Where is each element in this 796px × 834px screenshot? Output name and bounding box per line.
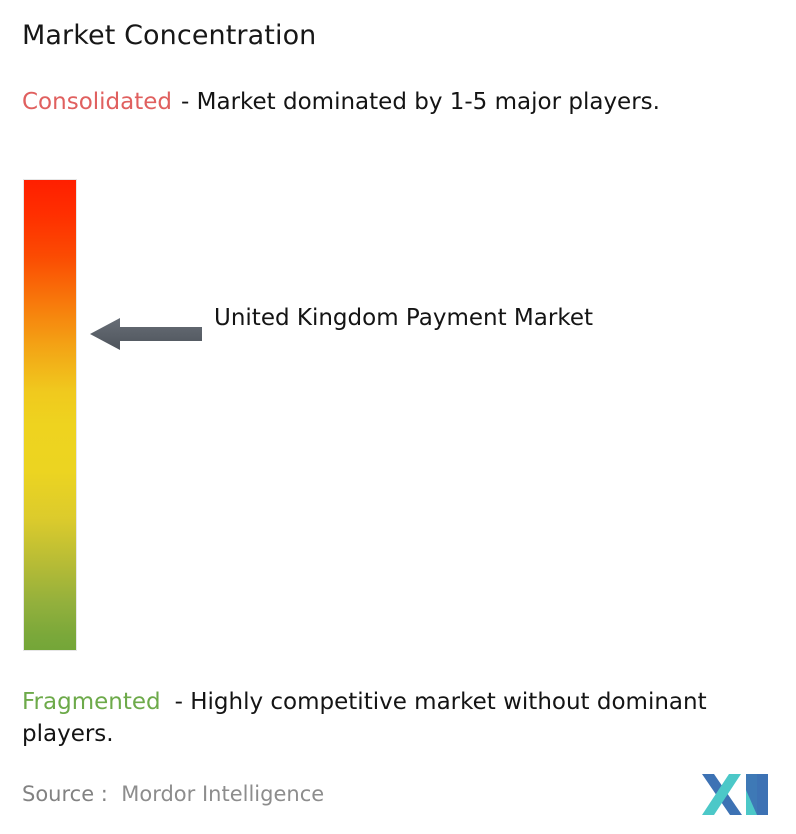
legend-consolidated: Consolidated- Market dominated by 1-5 ma… [22, 86, 778, 118]
legend-consolidated-description: Market dominated by 1-5 major players. [197, 89, 660, 115]
legend-consolidated-term: Consolidated [22, 89, 172, 115]
page-title: Market Concentration [22, 20, 316, 51]
concentration-gradient-bar [24, 180, 76, 650]
source-label: Source : [22, 782, 108, 806]
legend-fragmented: Fragmented- Highly competitive market wi… [22, 686, 782, 750]
legend-fragmented-term: Fragmented [22, 689, 161, 715]
legend-fragmented-dash: - [175, 689, 183, 715]
pointer-label: United Kingdom Payment Market [214, 303, 634, 334]
source-attribution: Source : Mordor Intelligence [22, 782, 324, 806]
source-value: Mordor Intelligence [121, 782, 324, 806]
mordor-intelligence-logo-icon [702, 770, 768, 815]
left-arrow-icon [90, 313, 202, 355]
legend-consolidated-dash: - [181, 89, 189, 115]
